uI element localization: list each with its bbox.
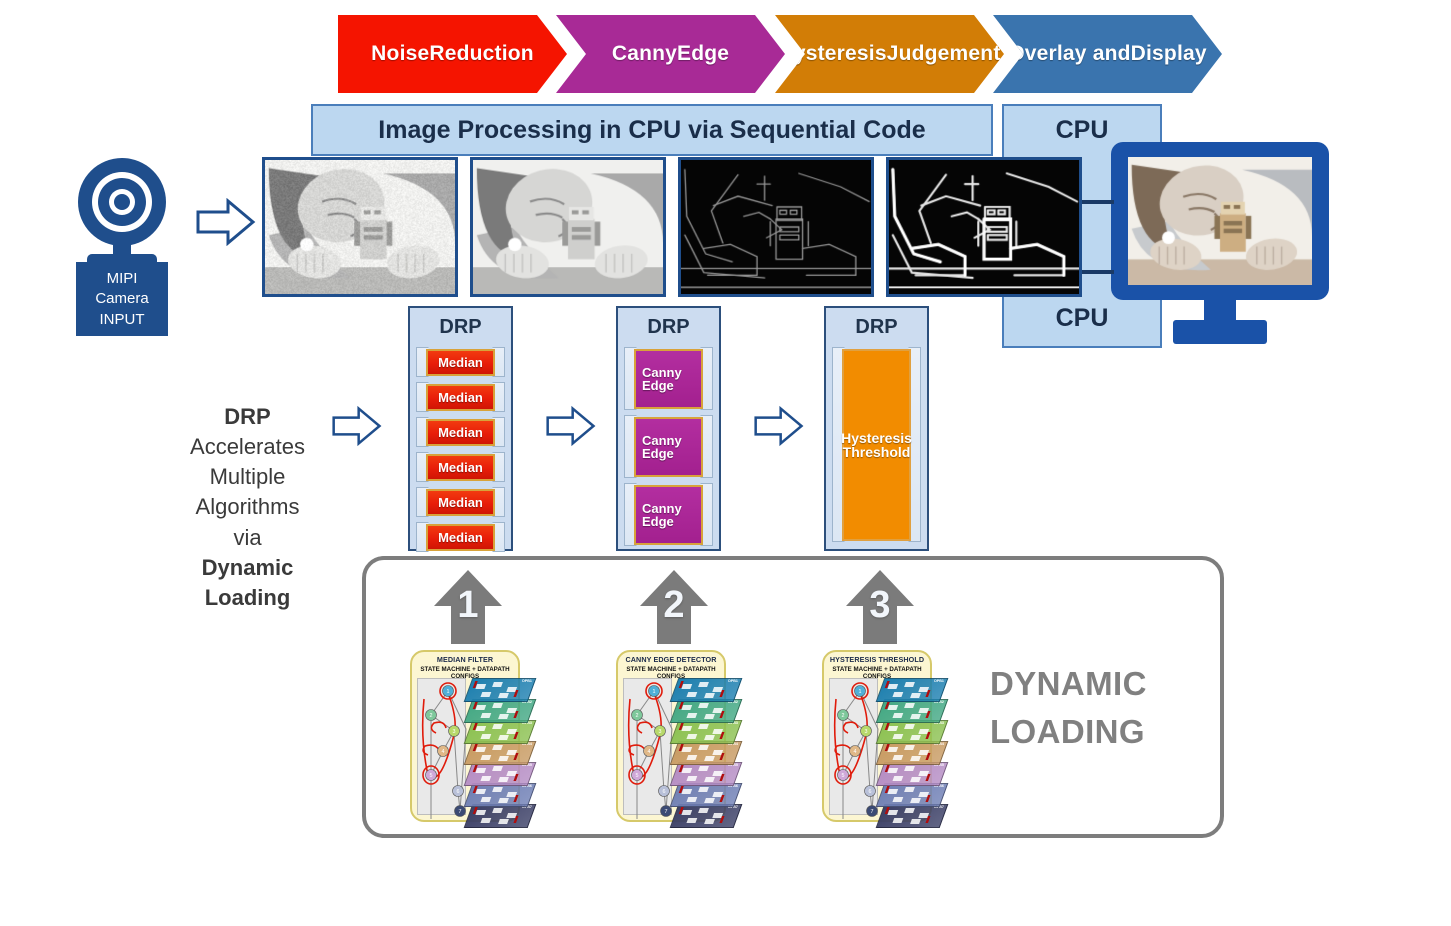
step-arrow-1: 1 — [432, 568, 504, 646]
connector-line-bottom — [1082, 270, 1114, 274]
pipeline-stage-label-line2: Judgement — [887, 43, 1001, 66]
datapath-config-layer[interactable]: DPB6 — [875, 783, 948, 807]
datapath-config-name: DPB1 — [934, 679, 944, 683]
drp-slot-list: HysteresisThreshold — [832, 346, 921, 541]
drp-algorithm-block-label: Median — [438, 391, 483, 404]
datapath-config-layer[interactable]: DPB7 — [875, 804, 948, 828]
svg-text:7: 7 — [459, 809, 462, 815]
svg-text:1: 1 — [653, 689, 656, 695]
datapath-config-name: DPB1 — [522, 679, 532, 683]
step-number: 1 — [432, 584, 504, 627]
pipeline-stage-label-line1: Noise — [371, 43, 429, 66]
drp-description-line3: Algorithms — [170, 492, 325, 522]
datapath-config-layer[interactable]: DPB7 — [669, 804, 742, 828]
pipeline-stage-label-line2: Display — [1131, 43, 1207, 66]
pipeline-stage-label-line2: Reduction — [429, 43, 533, 66]
svg-text:2: 2 — [842, 713, 845, 719]
svg-text:1: 1 — [859, 689, 862, 695]
drp-slot-list: CannyEdgeCannyEdgeCannyEdge — [624, 346, 713, 541]
svg-text:3: 3 — [453, 729, 456, 735]
flow-arrow-text-to-drp1 — [332, 405, 382, 452]
svg-text:3: 3 — [659, 729, 662, 735]
drp-algorithm-block[interactable]: Median — [426, 384, 495, 411]
datapath-config-stack: DPB1DPB2DPB3DPB4DPB5DPB6DPB7 — [672, 678, 720, 815]
svg-text:5: 5 — [430, 773, 433, 779]
datapath-config-layer[interactable]: DPB5 — [463, 762, 536, 786]
thumb-original-gray — [262, 157, 458, 297]
drp-stage-median: DRP MedianMedianMedianMedianMedianMedian — [408, 306, 513, 551]
step-arrow-3: 3 — [844, 568, 916, 646]
drp-algorithm-block[interactable]: Median — [426, 349, 495, 376]
drp-algorithm-block-label: Median — [438, 356, 483, 369]
drp-algorithm-block-label: Hysteresis — [841, 431, 912, 445]
drp-title: DRP — [826, 316, 927, 339]
drp-title: DRP — [410, 316, 511, 339]
config-card-title: HYSTERESIS THRESHOLD — [828, 656, 926, 665]
config-card-body: 1234567DPB1DPB2DPB3DPB4DPB5DPB6DPB7 — [417, 678, 514, 815]
svg-text:6: 6 — [457, 789, 460, 795]
datapath-config-stack: DPB1DPB2DPB3DPB4DPB5DPB6DPB7 — [466, 678, 514, 815]
drp-algorithm-block[interactable]: CannyEdge — [634, 417, 703, 477]
pipeline-stage-3: HysteresisJudgement — [775, 15, 1004, 93]
camera-label-line2: Camera — [76, 289, 168, 309]
drp-algorithm-block[interactable]: Median — [426, 489, 495, 516]
datapath-config-layer[interactable]: DPB4 — [875, 741, 948, 765]
thumb-denoised-gray — [470, 157, 666, 297]
connector-line-top — [1082, 200, 1114, 204]
thumb-canny-edges — [678, 157, 874, 297]
datapath-config-layer[interactable]: DPB5 — [669, 762, 742, 786]
pipeline-stage-label-line1: Hysteresis — [778, 43, 886, 66]
pipeline-stage-4: Overlay andDisplay — [993, 15, 1222, 93]
datapath-config-layer[interactable]: DPB2 — [875, 699, 948, 723]
datapath-config-layer[interactable]: DPB3 — [463, 720, 536, 744]
config-card-title: MEDIAN FILTER — [416, 656, 514, 665]
config-card-median-filter[interactable]: MEDIAN FILTERSTATE MACHINE + DATAPATH CO… — [410, 650, 520, 822]
datapath-config-layer[interactable]: DPB7 — [463, 804, 536, 828]
drp-slot-list: MedianMedianMedianMedianMedianMedian — [416, 346, 505, 541]
svg-text:2: 2 — [636, 713, 639, 719]
datapath-config-layer[interactable]: DPB1 — [669, 678, 742, 702]
datapath-config-layer[interactable]: DPB4 — [463, 741, 536, 765]
config-card-title: CANNY EDGE DETECTOR — [622, 656, 720, 665]
drp-slot: CannyEdge — [624, 346, 713, 412]
svg-text:6: 6 — [869, 789, 872, 795]
datapath-config-layer[interactable]: DPB6 — [669, 783, 742, 807]
config-card-canny-edge[interactable]: CANNY EDGE DETECTORSTATE MACHINE + DATAP… — [616, 650, 726, 822]
drp-algorithm-block-label: Threshold — [843, 445, 911, 459]
drp-description-title: DRP — [170, 402, 325, 432]
step-arrow-2: 2 — [638, 568, 710, 646]
svg-text:7: 7 — [665, 809, 668, 815]
drp-algorithm-block-label: Edge — [642, 447, 674, 460]
drp-algorithm-block-label: Median — [438, 531, 483, 544]
drp-algorithm-block-label: Median — [438, 426, 483, 439]
svg-text:4: 4 — [442, 749, 445, 755]
datapath-config-layer[interactable]: DPB1 — [463, 678, 536, 702]
datapath-config-name: DPB1 — [728, 679, 738, 683]
drp-algorithm-block-label: Edge — [642, 515, 674, 528]
drp-algorithm-block-label: Edge — [642, 379, 674, 392]
datapath-config-layer[interactable]: DPB2 — [463, 699, 536, 723]
config-card-body: 1234567DPB1DPB2DPB3DPB4DPB5DPB6DPB7 — [623, 678, 720, 815]
drp-algorithm-block-label: Median — [438, 496, 483, 509]
drp-description: DRP Accelerates Multiple Algorithms via … — [170, 402, 325, 613]
drp-description-line5: Dynamic — [170, 553, 325, 583]
state-machine-graph: 1234567 — [829, 678, 878, 815]
dynamic-loading-label: DYNAMIC LOADING — [990, 660, 1220, 756]
drp-description-line2: Multiple — [170, 462, 325, 492]
svg-text:2: 2 — [430, 713, 433, 719]
drp-slot: Median — [416, 346, 505, 379]
flow-arrow-drp1-to-drp2 — [546, 405, 596, 452]
flow-arrow-camera-to-pipeline — [196, 198, 256, 251]
datapath-config-layer[interactable]: DPB5 — [875, 762, 948, 786]
step-number: 2 — [638, 584, 710, 627]
drp-description-line4: via — [170, 523, 325, 553]
drp-slot: CannyEdge — [624, 414, 713, 480]
thumb-hysteresis — [886, 157, 1082, 297]
drp-algorithm-block[interactable]: Median — [426, 454, 495, 481]
camera-label-line1: MIPI — [76, 269, 168, 289]
svg-text:6: 6 — [663, 789, 666, 795]
pipeline-stage-banner: NoiseReductionCannyEdgeHysteresisJudgeme… — [338, 15, 1222, 93]
drp-stage-hysteresis: DRP HysteresisThreshold — [824, 306, 929, 551]
drp-algorithm-block[interactable]: Median — [426, 524, 495, 551]
drp-slot: HysteresisThreshold — [832, 346, 921, 544]
datapath-config-layer[interactable]: DPB1 — [875, 678, 948, 702]
pipeline-stage-label-line1: Canny — [612, 43, 677, 66]
camera-label-line3: INPUT — [76, 310, 168, 330]
drp-slot: Median — [416, 451, 505, 484]
drp-slot: CannyEdge — [624, 482, 713, 548]
drp-description-line6: Loading — [170, 583, 325, 613]
flow-arrow-drp2-to-drp3 — [754, 405, 804, 452]
pipeline-stage-1: NoiseReduction — [338, 15, 567, 93]
drp-algorithm-block[interactable]: CannyEdge — [634, 349, 703, 409]
datapath-config-layer[interactable]: DPB6 — [463, 783, 536, 807]
state-machine-graph: 1234567 — [623, 678, 672, 815]
svg-text:7: 7 — [871, 809, 874, 815]
datapath-config-layer[interactable]: DPB3 — [669, 720, 742, 744]
drp-stage-canny: DRP CannyEdgeCannyEdgeCannyEdge — [616, 306, 721, 551]
drp-slot: Median — [416, 521, 505, 554]
pipeline-stage-label-line2: Edge — [677, 43, 729, 66]
dynamic-loading-label-line2: LOADING — [990, 708, 1220, 756]
pipeline-stage-label-line1: Overlay and — [1008, 43, 1130, 66]
display-monitor — [1111, 142, 1329, 347]
drp-title: DRP — [618, 316, 719, 339]
svg-text:1: 1 — [447, 689, 450, 695]
config-card-hysteresis[interactable]: HYSTERESIS THRESHOLDSTATE MACHINE + DATA… — [822, 650, 932, 822]
cpu-label-top: CPU — [1004, 116, 1160, 145]
dynamic-loading-label-line1: DYNAMIC — [990, 660, 1220, 708]
datapath-config-stack: DPB1DPB2DPB3DPB4DPB5DPB6DPB7 — [878, 678, 926, 815]
step-number: 3 — [844, 584, 916, 627]
drp-slot: Median — [416, 486, 505, 519]
svg-text:5: 5 — [842, 773, 845, 779]
drp-algorithm-block[interactable]: Median — [426, 419, 495, 446]
drp-algorithm-block[interactable]: CannyEdge — [634, 485, 703, 545]
state-machine-graph: 1234567 — [417, 678, 466, 815]
svg-text:4: 4 — [648, 749, 651, 755]
config-card-body: 1234567DPB1DPB2DPB3DPB4DPB5DPB6DPB7 — [829, 678, 926, 815]
svg-text:5: 5 — [636, 773, 639, 779]
camera-input-label: MIPI Camera INPUT — [76, 262, 168, 336]
svg-text:3: 3 — [865, 729, 868, 735]
pipeline-stage-2: CannyEdge — [556, 15, 785, 93]
datapath-config-layer[interactable]: DPB2 — [669, 699, 742, 723]
datapath-config-layer[interactable]: DPB3 — [875, 720, 948, 744]
drp-algorithm-block[interactable]: HysteresisThreshold — [842, 349, 911, 541]
webcam-icon — [75, 150, 169, 268]
svg-text:4: 4 — [854, 749, 857, 755]
drp-description-line1: Accelerates — [170, 432, 325, 462]
drp-algorithm-block-label: Median — [438, 461, 483, 474]
cpu-sequential-panel: Image Processing in CPU via Sequential C… — [311, 104, 993, 156]
drp-slot: Median — [416, 381, 505, 414]
drp-slot: Median — [416, 416, 505, 449]
cpu-panel-title: Image Processing in CPU via Sequential C… — [313, 106, 991, 154]
datapath-config-layer[interactable]: DPB4 — [669, 741, 742, 765]
